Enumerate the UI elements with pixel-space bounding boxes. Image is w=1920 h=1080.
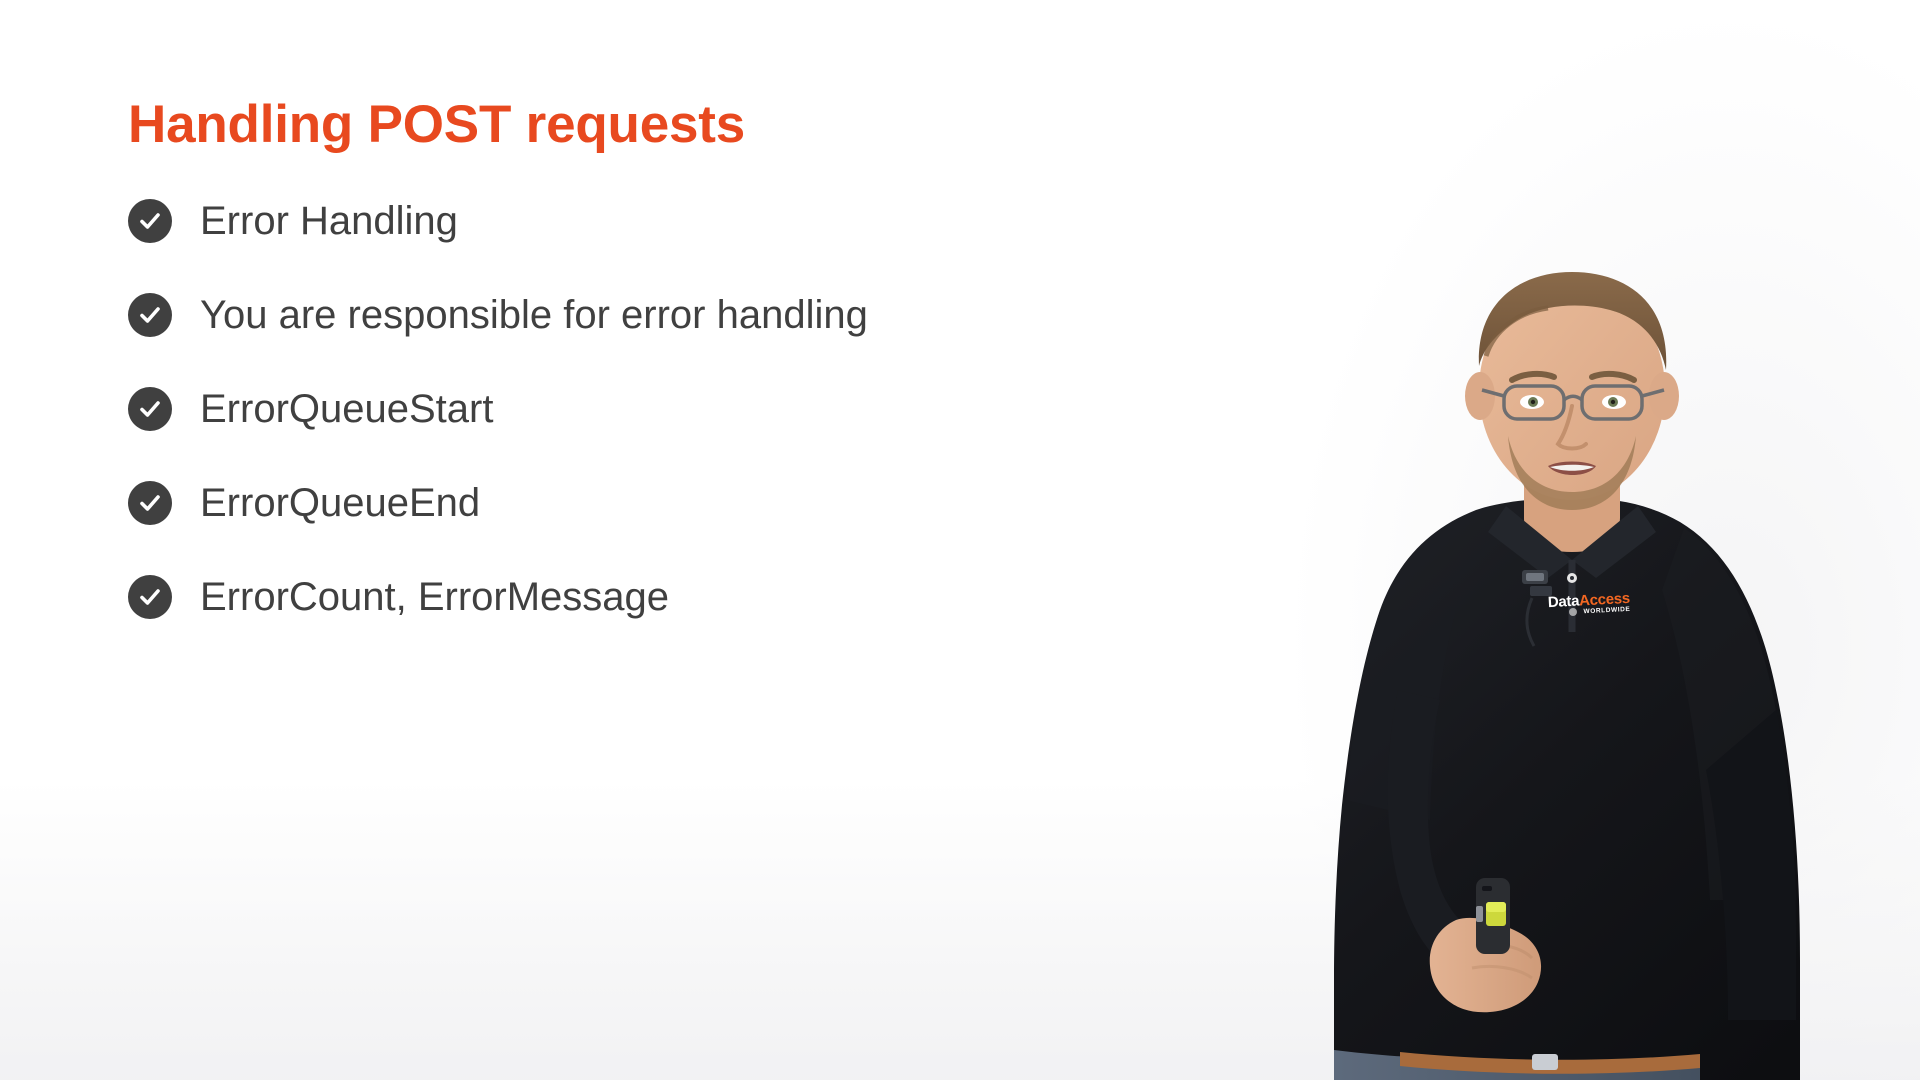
check-circle-icon <box>128 575 172 619</box>
lapel-microphone <box>1522 570 1552 646</box>
slide-canvas: DataAccess WORLDWIDE Handling POST reque… <box>0 0 1920 1080</box>
shirt-logo-part1: Data <box>1547 593 1579 612</box>
list-item: ErrorQueueStart <box>128 386 1208 432</box>
presenter-collar <box>1488 506 1656 632</box>
presenter-right-arm <box>1706 710 1796 1020</box>
eyeglasses <box>1482 386 1664 419</box>
list-item-label: ErrorCount, ErrorMessage <box>200 574 669 620</box>
list-item-label: ErrorQueueEnd <box>200 480 480 526</box>
background-shade-right <box>1280 0 1920 1080</box>
list-item-label: You are responsible for error handling <box>200 292 868 338</box>
shirt-logo-subtitle: WORLDWIDE <box>1548 607 1630 618</box>
presenter-remote <box>1476 878 1510 954</box>
shirt-logo: DataAccess WORLDWIDE <box>1547 591 1630 618</box>
list-item: ErrorQueueEnd <box>128 480 1208 526</box>
check-circle-icon <box>128 293 172 337</box>
list-item-label: ErrorQueueStart <box>200 386 493 432</box>
list-item: ErrorCount, ErrorMessage <box>128 574 1208 620</box>
bullet-list: Error Handling You are responsible for e… <box>128 198 1208 620</box>
page-title: Handling POST requests <box>128 96 1208 154</box>
slide-content: Handling POST requests Error Handling Yo… <box>128 96 1208 668</box>
list-item: Error Handling <box>128 198 1208 244</box>
presenter-belt <box>1334 1050 1700 1080</box>
background-shade-bottom <box>0 780 1920 1080</box>
check-circle-icon <box>128 387 172 431</box>
shirt-logo-part2: Access <box>1579 590 1631 610</box>
presenter-head <box>1465 272 1679 510</box>
list-item-label: Error Handling <box>200 198 458 244</box>
check-circle-icon <box>128 199 172 243</box>
list-item: You are responsible for error handling <box>128 292 1208 338</box>
presenter-shirt <box>1334 498 1800 1080</box>
presenter-arm-and-hand <box>1388 690 1541 1012</box>
presenter-figure: DataAccess WORLDWIDE <box>1280 260 1900 1080</box>
presenter-neck <box>1524 450 1620 552</box>
check-circle-icon <box>128 481 172 525</box>
